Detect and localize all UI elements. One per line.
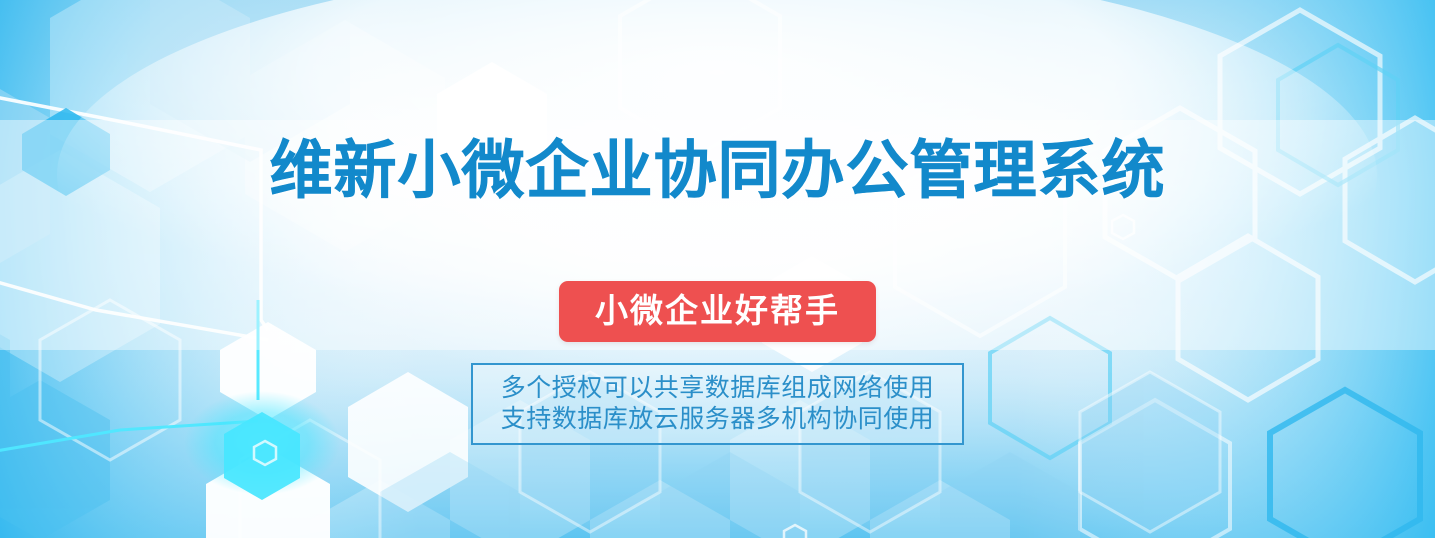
feature-line-2: 支持数据库放云服务器多机构协同使用 [501,403,935,434]
page-title: 维新小微企业协同办公管理系统 [270,139,1166,202]
banner-content: 维新小微企业协同办公管理系统 小微企业好帮手 多个授权可以共享数据库组成网络使用… [0,0,1435,538]
tagline-badge: 小微企业好帮手 [559,281,876,342]
feature-info-box: 多个授权可以共享数据库组成网络使用 支持数据库放云服务器多机构协同使用 [471,363,965,445]
feature-line-1: 多个授权可以共享数据库组成网络使用 [501,372,935,403]
hero-banner: 维新小微企业协同办公管理系统 小微企业好帮手 多个授权可以共享数据库组成网络使用… [0,0,1435,538]
